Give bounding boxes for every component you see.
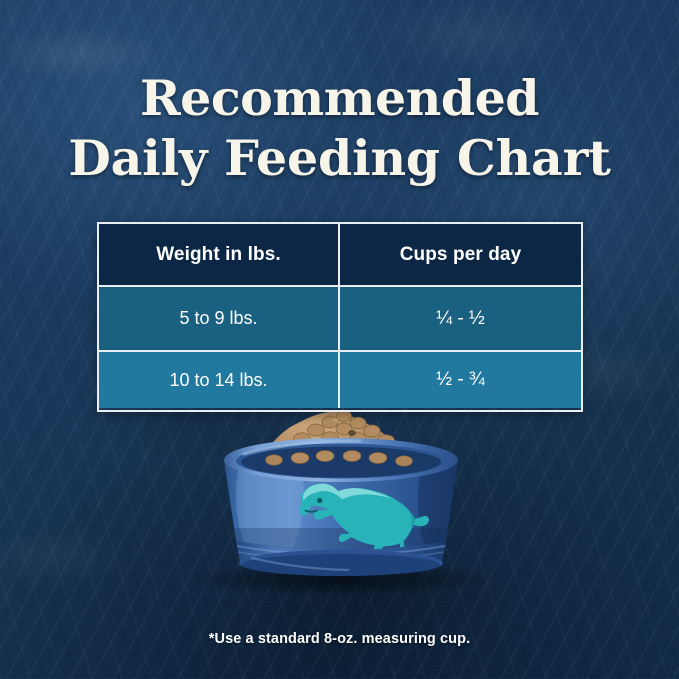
dog-bowl-icon (0, 396, 679, 596)
footnote: *Use a standard 8-oz. measuring cup. (0, 631, 679, 647)
table-row: 10 to 14 lbs. ½ - ¾ (99, 350, 581, 408)
bowl-foot-shade (242, 554, 440, 576)
page-title: Recommended Daily Feeding Chart (0, 74, 679, 183)
cell-cups: ¼ - ½ (338, 287, 581, 350)
cell-cups: ½ - ¾ (338, 352, 581, 408)
title-line-1: Recommended (0, 74, 679, 123)
feeding-table: Weight in lbs. Cups per day 5 to 9 lbs. … (97, 222, 583, 412)
feeding-chart-poster: Recommended Daily Feeding Chart Weight i… (0, 0, 679, 679)
cell-weight: 5 to 9 lbs. (99, 287, 338, 350)
column-header-cups: Cups per day (338, 224, 581, 285)
column-header-weight: Weight in lbs. (99, 224, 338, 285)
table-row: 5 to 9 lbs. ¼ - ½ (99, 285, 581, 350)
cell-weight: 10 to 14 lbs. (99, 352, 338, 408)
title-line-2: Daily Feeding Chart (0, 134, 679, 183)
table-header-row: Weight in lbs. Cups per day (99, 224, 581, 285)
dog-bowl-illustration (0, 396, 679, 596)
